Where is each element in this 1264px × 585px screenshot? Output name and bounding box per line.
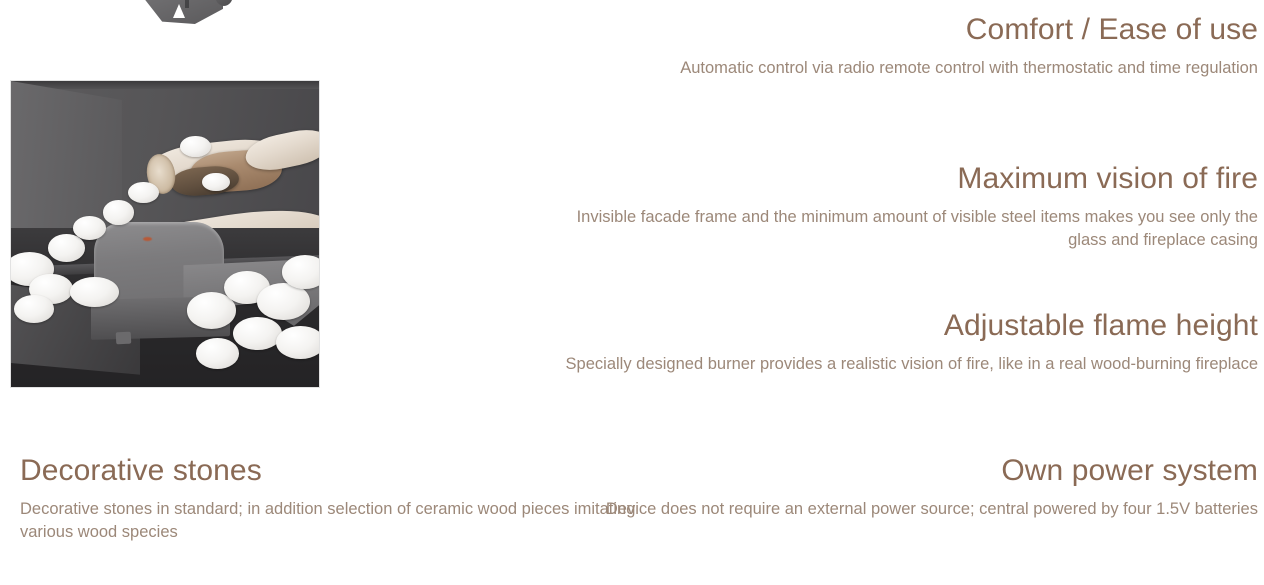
feature-decorative-stones: Decorative stones Decorative stones in s… (20, 453, 640, 544)
unit-fragment-image (145, 0, 245, 28)
product-photo-scene (11, 81, 319, 387)
feature-own-power-system: Own power system Device does not require… (558, 453, 1258, 521)
decorative-stone (202, 173, 230, 191)
feature-comfort: Comfort / Ease of use Automatic control … (558, 12, 1258, 80)
firebox-top-edge (11, 81, 319, 89)
decorative-stone (70, 277, 119, 308)
feature-adjustable-flame: Adjustable flame height Specially design… (558, 308, 1258, 376)
decorative-stone (128, 182, 159, 203)
feature-maximum-vision: Maximum vision of fire Invisible facade … (558, 161, 1258, 252)
decorative-stone (233, 317, 282, 351)
decorative-stone (103, 200, 134, 224)
feature-description: Decorative stones in standard; in additi… (20, 498, 640, 544)
feature-description: Automatic control via radio remote contr… (558, 57, 1258, 80)
unit-fragment-body (145, 0, 223, 24)
feature-description: Device does not require an external powe… (558, 498, 1258, 521)
decorative-stone (14, 295, 54, 323)
feature-title: Comfort / Ease of use (558, 12, 1258, 48)
feature-title: Decorative stones (20, 453, 640, 489)
decorative-stone (196, 338, 239, 369)
feature-title: Maximum vision of fire (558, 161, 1258, 197)
feature-title: Adjustable flame height (558, 308, 1258, 344)
product-photo (10, 80, 320, 388)
feature-description: Invisible facade frame and the minimum a… (558, 206, 1258, 252)
unit-fragment-edge (185, 0, 189, 8)
feature-description: Specially designed burner provides a rea… (558, 353, 1258, 376)
feature-title: Own power system (558, 453, 1258, 489)
decorative-stone (48, 234, 85, 262)
burner-slot (115, 332, 131, 345)
